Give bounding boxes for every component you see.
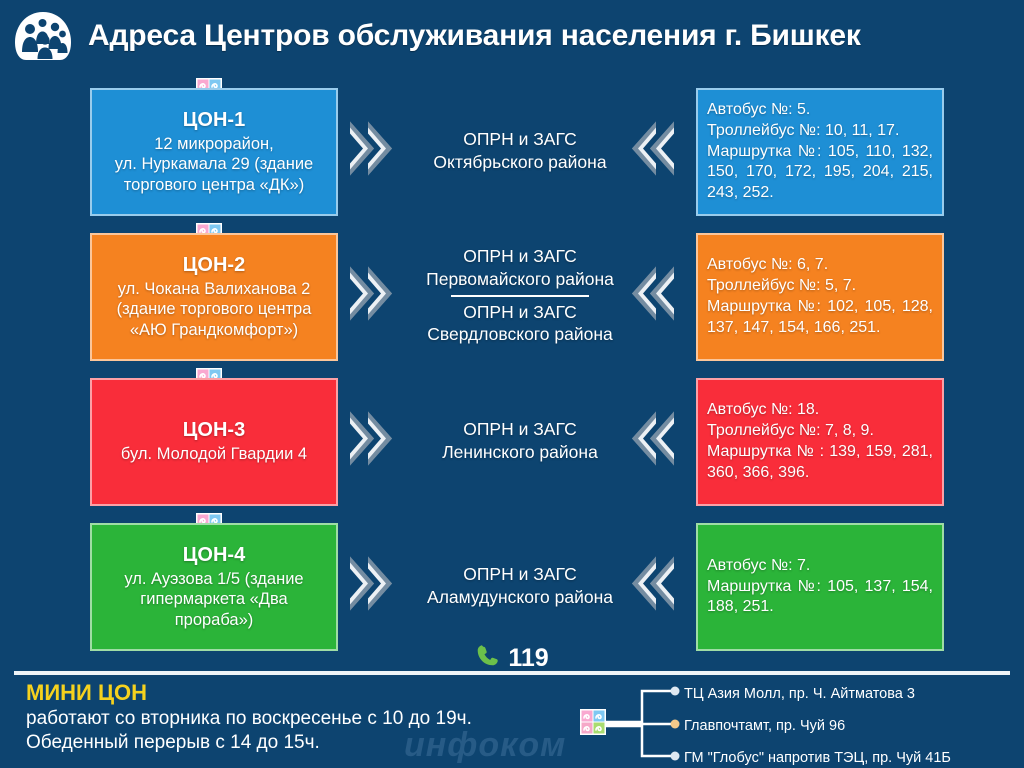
transport-line: Автобус №: 5. xyxy=(707,100,933,121)
cson-name: ЦОН-4 xyxy=(183,544,245,567)
transport-line: Маршрутка №: 105, 110, 132, 150, 170, 17… xyxy=(707,142,933,204)
cson-address: 12 микрорайон,ул. Нуркамала 29 (зданието… xyxy=(115,134,313,194)
chevron-left-icon xyxy=(630,262,676,329)
district-label: ОПРН и ЗАГССвердловского района xyxy=(426,301,614,346)
transport-line: Маршрутка № : 139, 159, 281, 360, 366, 3… xyxy=(707,442,933,484)
district-label: ОПРН и ЗАГСЛенинского района xyxy=(442,418,598,463)
four-color-squares-icon xyxy=(580,709,606,735)
transport-card-3[interactable]: Автобус №: 18.Троллейбус №: 7, 8, 9.Марш… xyxy=(696,378,944,506)
transport-line: Автобус №: 18. xyxy=(707,400,933,421)
mini-location-item[interactable]: Главпочтамт, пр. Чуй 96 xyxy=(684,719,845,734)
address-card-4[interactable]: ЦОН-4 ул. Ауэзова 1/5 (зданиегипермаркет… xyxy=(90,523,338,651)
cson-row: ЦОН-3 бул. Молодой Гвардии 4 ОПРН и ЗАГС… xyxy=(0,368,1024,513)
address-card-2[interactable]: ЦОН-2 ул. Чокана Валиханова 2(здание тор… xyxy=(90,233,338,361)
district-label: ОПРН и ЗАГСАламудунского района xyxy=(427,563,613,608)
cson-name: ЦОН-2 xyxy=(183,254,245,277)
mini-cson-title: МИНИ ЦОН xyxy=(26,681,472,705)
district-list-2: ОПРН и ЗАГСПервомайского районаОПРН и ЗА… xyxy=(384,245,656,346)
address-card-3[interactable]: ЦОН-3 бул. Молодой Гвардии 4 xyxy=(90,378,338,506)
cson-name: ЦОН-1 xyxy=(183,109,245,132)
transport-line: Автобус №: 6, 7. xyxy=(707,255,933,276)
page-footer: МИНИ ЦОН работают со вторника по воскрес… xyxy=(0,675,1024,768)
transport-line: Автобус №: 7. xyxy=(707,556,933,577)
transport-line: Маршрутка №: 102, 105, 128, 137, 147, 15… xyxy=(707,297,933,339)
transport-card-1[interactable]: Автобус №: 5.Троллейбус №: 10, 11, 17.Ма… xyxy=(696,88,944,216)
mini-cson-hours-line-2: Обеденный перерыв с 14 до 15ч. xyxy=(26,731,472,755)
cson-address: ул. Чокана Валиханова 2(здание торгового… xyxy=(117,279,312,339)
chevron-left-icon xyxy=(630,407,676,474)
district-label: ОПРН и ЗАГСОктябрьского района xyxy=(433,128,606,173)
district-list-1: ОПРН и ЗАГСОктябрьского района xyxy=(391,128,648,173)
address-card-1[interactable]: ЦОН-1 12 микрорайон,ул. Нуркамала 29 (зд… xyxy=(90,88,338,216)
district-label: ОПРН и ЗАГСПервомайского района xyxy=(426,245,614,290)
transport-card-2[interactable]: Автобус №: 6, 7.Троллейбус №: 5, 7.Маршр… xyxy=(696,233,944,361)
district-separator xyxy=(451,295,590,297)
cson-row: ЦОН-1 12 микрорайон,ул. Нуркамала 29 (зд… xyxy=(0,78,1024,223)
transport-card-4[interactable]: Автобус №: 7.Маршрутка №: 105, 137, 154,… xyxy=(696,523,944,651)
mini-location-item[interactable]: ГМ "Глобус" напротив ТЭЦ, пр. Чуй 41Б xyxy=(684,751,951,766)
phone-handset-icon xyxy=(475,643,500,673)
page-title: Адреса Центров обслуживания населения г.… xyxy=(88,19,861,53)
cson-address: бул. Молодой Гвардии 4 xyxy=(121,444,307,464)
chevron-left-icon xyxy=(630,117,676,184)
mini-cson-block: МИНИ ЦОН работают со вторника по воскрес… xyxy=(26,681,472,755)
district-list-3: ОПРН и ЗАГСЛенинского района xyxy=(400,418,640,463)
district-list-4: ОПРН и ЗАГСАламудунского района xyxy=(385,563,655,608)
mini-cson-hours-line-1: работают со вторника по воскресенье с 10… xyxy=(26,707,472,731)
cson-name: ЦОН-3 xyxy=(183,419,245,442)
hotline-block[interactable]: 119 xyxy=(0,641,1024,675)
cson-row: ЦОН-2 ул. Чокана Валиханова 2(здание тор… xyxy=(0,223,1024,368)
cson-row: ЦОН-4 ул. Ауэзова 1/5 (зданиегипермаркет… xyxy=(0,513,1024,658)
mini-cson-locations: ТЦ Азия Молл, пр. Ч. Айтматова 3 Главпоч… xyxy=(580,679,1020,767)
page-header: Адреса Центров обслуживания населения г.… xyxy=(0,0,1024,72)
people-group-badge-icon xyxy=(12,10,74,62)
cson-address: ул. Ауэзова 1/5 (зданиегипермаркета «Два… xyxy=(124,569,303,629)
transport-line: Троллейбус №: 7, 8, 9. xyxy=(707,421,933,442)
phone-number: 119 xyxy=(508,644,548,673)
transport-line: Маршрутка №: 105, 137, 154, 188, 251. xyxy=(707,577,933,619)
chevron-left-icon xyxy=(630,552,676,619)
transport-line: Троллейбус №: 5, 7. xyxy=(707,276,933,297)
mini-location-item[interactable]: ТЦ Азия Молл, пр. Ч. Айтматова 3 xyxy=(684,687,915,702)
transport-line: Троллейбус №: 10, 11, 17. xyxy=(707,121,933,142)
